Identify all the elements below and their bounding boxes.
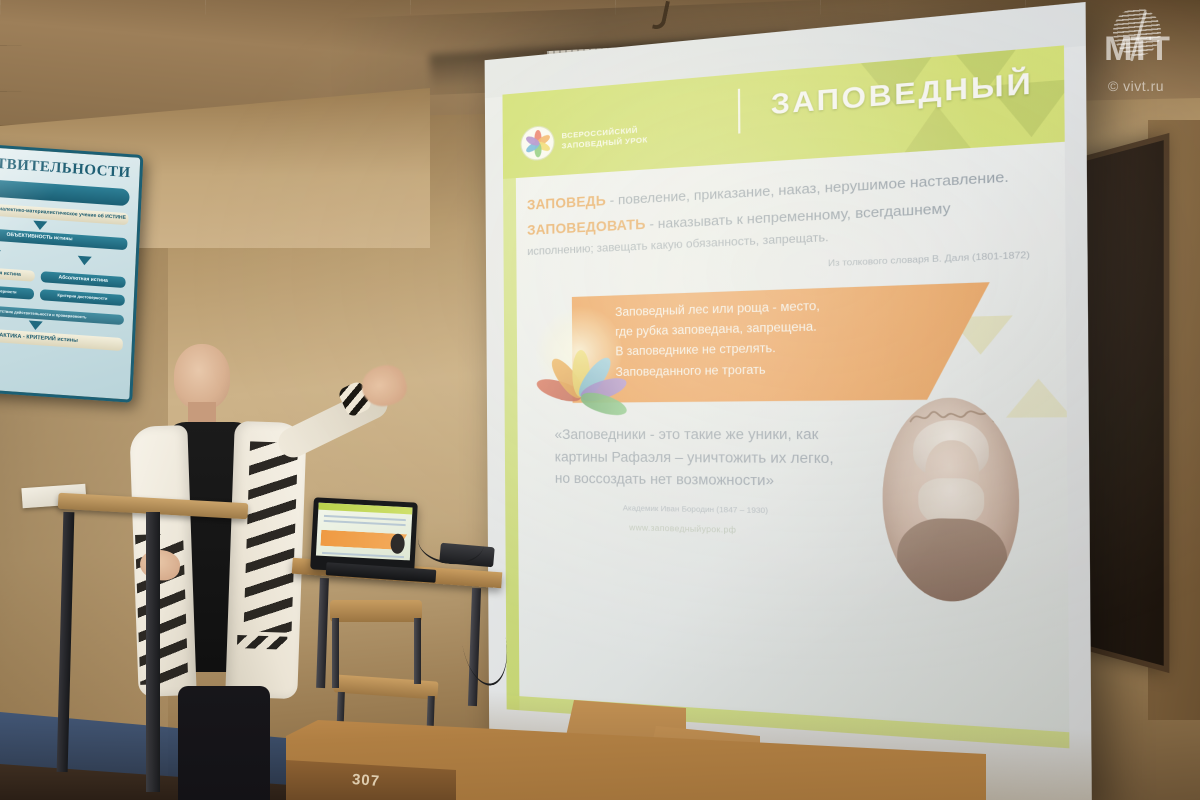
term-zapovedovat: ЗАПОВЕДОВАТЬ: [527, 216, 646, 238]
monitor-slide-line: [324, 520, 406, 526]
poster-arrow-icon: [77, 255, 91, 265]
logo-text-block: ВСЕРОССИЙСКИЙ ЗАПОВЕДНЫЙ УРОК: [562, 124, 648, 151]
poster-arrow-icon: [33, 220, 47, 230]
monitor-slide-line: [322, 552, 404, 558]
quote-text: «Заповедники - это такие же уники, как к…: [554, 422, 845, 494]
presentation-slide: ВСЕРОССИЙСКИЙ ЗАПОВЕДНЫЙ УРОК ЗАПОВЕДНЫЙ…: [502, 45, 1069, 748]
poster-title: ТВИТЕЛЬНОСТИ: [0, 153, 131, 182]
poster-box: Критерии достоверности: [0, 283, 34, 300]
mtt-logo-icon: MTT: [1093, 8, 1179, 74]
cardigan-pattern: [237, 635, 287, 650]
presenter-head: [174, 344, 230, 410]
term-zapoved: ЗАПОВЕДЬ: [527, 193, 606, 213]
poster-box: ОБЪЕКТИВНОСТЬ истины: [0, 226, 128, 250]
header-divider: [738, 89, 741, 134]
chair-back: [330, 600, 422, 622]
poster-box: Критерии достоверности: [40, 289, 125, 306]
orange-banner-section: Заповедный лес или роща - место, где руб…: [528, 280, 1042, 407]
quote-line-1: «Заповедники - это такие же уники, как: [554, 422, 844, 446]
monitor-screen: [316, 503, 413, 561]
poster-header-bar: [0, 177, 130, 206]
watermark-url: © vivt.ru: [1084, 78, 1188, 94]
poster-arrow-icon: [28, 321, 42, 331]
lectern-post: [146, 512, 160, 792]
portrait-wash: [882, 397, 1020, 604]
poster-box: Относительная истина: [0, 264, 35, 282]
borodin-portrait-icon: [882, 397, 1020, 604]
classroom-presentation-photo: ТВИТЕЛЬНОСТИ Диалектико-материалистическ…: [0, 0, 1200, 800]
table-number: 307: [351, 771, 380, 790]
projection-screen: ВСЕРОССИЙСКИЙ ЗАПОВЕДНЫЙ УРОК ЗАПОВЕДНЫЙ…: [485, 2, 1092, 800]
flower-graphic-icon: [534, 301, 625, 401]
definition-block: ЗАПОВЕДЬ - повеление, приказание, наказ,…: [527, 162, 1040, 280]
watermark: MTT © vivt.ru: [1084, 8, 1188, 94]
monitor-slide-portrait: [390, 533, 405, 554]
flower-logo-icon: [520, 125, 554, 162]
banner-text: Заповедный лес или роща - место, где руб…: [615, 292, 966, 383]
poster-box: Соответствие действительности и проверяе…: [0, 303, 124, 326]
mtt-logo-text: MTT: [1093, 30, 1179, 69]
quote-line-2: картины Рафаэля – уничтожить их легко,: [555, 446, 845, 470]
cardigan-pattern: [243, 441, 298, 633]
slide-body: ЗАПОВЕДЬ - повеление, приказание, наказ,…: [503, 142, 1068, 543]
chair-leg: [414, 618, 421, 684]
chair-leg: [332, 618, 339, 688]
zapovedny-urok-logo: ВСЕРОССИЙСКИЙ ЗАПОВЕДНЫЙ УРОК: [520, 117, 647, 161]
chair-seat: [333, 674, 438, 699]
poster-box: Диалектико-материалистическое учение об …: [0, 204, 129, 225]
monitor-slide-header: [318, 503, 412, 515]
poster-box: Абсолютная истина: [41, 271, 126, 289]
presenter-legs: [178, 686, 270, 800]
quote-line-3: но воссоздать нет возможности»: [555, 468, 845, 494]
quote-section: «Заповедники - это такие же уники, как к…: [528, 422, 1042, 543]
